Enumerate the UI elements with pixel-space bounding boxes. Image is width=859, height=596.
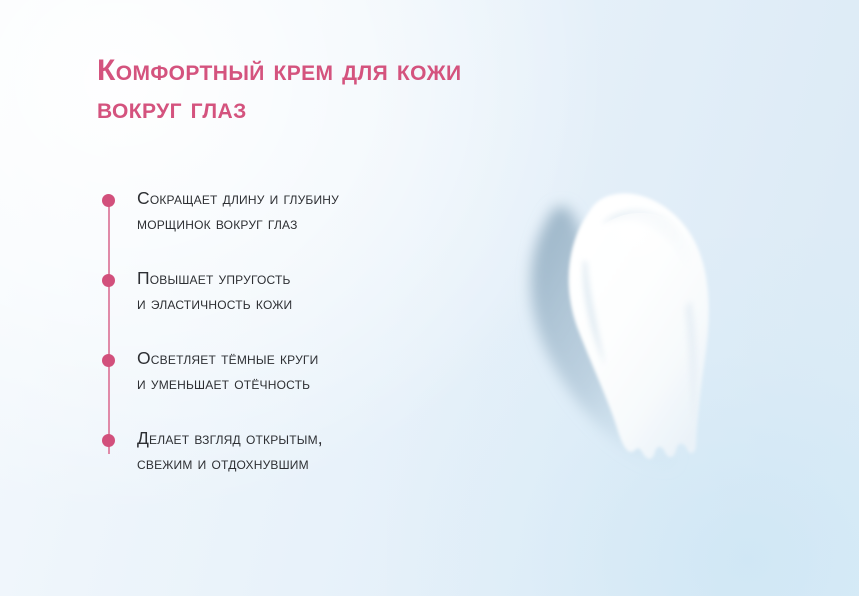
- bullet-dot-icon: [102, 434, 115, 447]
- list-item: Повышает упругость и эластичность кожи: [97, 266, 497, 346]
- bullet-dot-icon: [102, 274, 115, 287]
- benefit-text: Повышает упругость и эластичность кожи: [137, 266, 497, 316]
- benefit-text: Делает взгляд открытым, свежим и отдохну…: [137, 426, 497, 476]
- list-item: Сокращает длину и глубину морщинок вокру…: [97, 186, 497, 266]
- benefit-text: Осветляет тёмные круги и уменьшает отёчн…: [137, 346, 497, 396]
- benefit-text: Сокращает длину и глубину морщинок вокру…: [137, 186, 497, 236]
- swatch-highlight: [588, 213, 692, 297]
- title-line-2: вокруг глаз: [97, 90, 617, 128]
- slide-root: Комфортный крем для кожи вокруг глаз Сок…: [0, 0, 859, 596]
- title-line-1: Комфортный крем для кожи: [97, 52, 617, 90]
- cream-swatch-image: [505, 150, 825, 510]
- benefits-list: Сокращает длину и глубину морщинок вокру…: [97, 186, 497, 506]
- list-item: Осветляет тёмные круги и уменьшает отёчн…: [97, 346, 497, 426]
- bullet-dot-icon: [102, 194, 115, 207]
- list-item: Делает взгляд открытым, свежим и отдохну…: [97, 426, 497, 506]
- cream-swatch-graphic: [505, 150, 825, 510]
- page-title: Комфортный крем для кожи вокруг глаз: [97, 52, 617, 128]
- bullet-dot-icon: [102, 354, 115, 367]
